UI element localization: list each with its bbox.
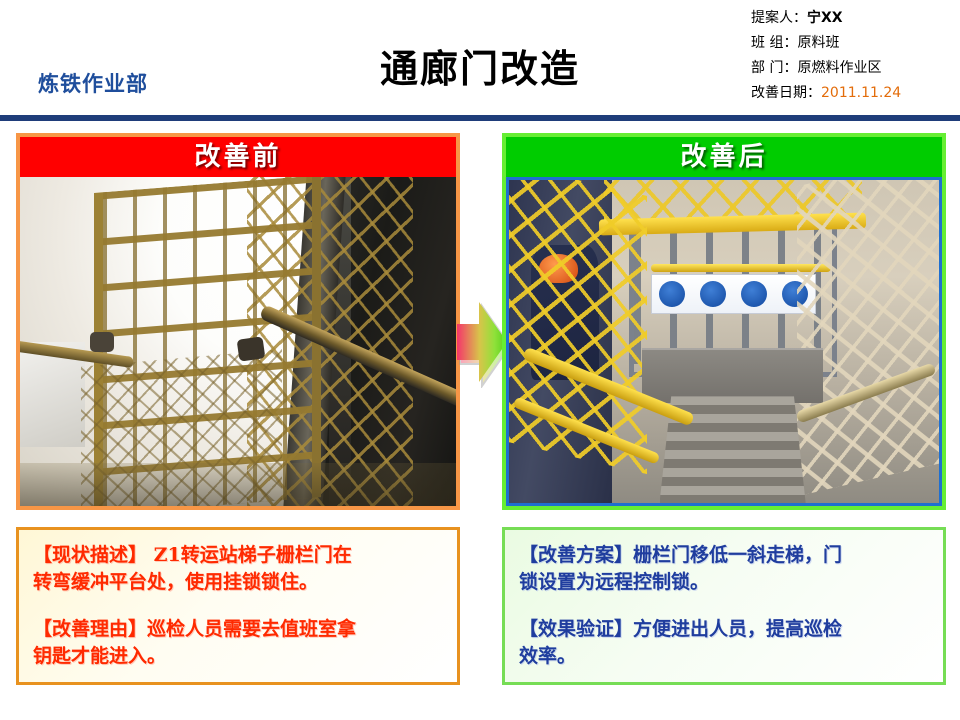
after-photo-image xyxy=(509,180,939,503)
slide-header: 炼铁作业部 通廊门改造 提案人：宁XX 班 组：原料班 部 门：原燃料作业区 改… xyxy=(0,0,960,118)
meta-value-proposer: 宁XX xyxy=(807,10,843,26)
improvement-plan-line-2: 锁设置为远程控制锁。 xyxy=(519,569,929,596)
safety-sign-icon-1 xyxy=(659,281,685,307)
before-frame: 改善前 xyxy=(16,133,460,510)
after-photo xyxy=(506,177,942,506)
text-gap xyxy=(519,596,929,616)
improvement-reason-line-2: 钥匙才能进入。 xyxy=(33,643,443,670)
after-description-box: 【改善方案】栅栏门移低一斜走梯，门 锁设置为远程控制锁。 【效果验证】方便进出人… xyxy=(502,527,946,685)
right-mesh xyxy=(797,180,939,497)
meta-row-date: 改善日期：2011.11.24 xyxy=(751,81,946,106)
meta-label-date: 改善日期： xyxy=(751,85,821,101)
improvement-reason-line-1: 【改善理由】巡检人员需要去值班室拿 xyxy=(33,616,443,643)
photo-foreground-shade xyxy=(20,463,456,506)
meta-row-proposer: 提案人：宁XX xyxy=(751,6,946,31)
panel-before: 改善前 xyxy=(16,133,460,510)
slide-root: 炼铁作业部 通廊门改造 提案人：宁XX 班 组：原料班 部 门：原燃料作业区 改… xyxy=(0,0,960,720)
hinge-icon xyxy=(90,332,114,352)
after-frame: 改善后 xyxy=(502,133,946,510)
safety-sign-icon-2 xyxy=(700,281,726,307)
meta-label-proposer: 提案人： xyxy=(751,10,807,26)
meta-block: 提案人：宁XX 班 组：原料班 部 门：原燃料作业区 改善日期：2011.11.… xyxy=(751,6,946,106)
safety-sign-icon-3 xyxy=(741,281,767,307)
meta-value-date: 2011.11.24 xyxy=(821,85,901,101)
meta-row-team: 班 组：原料班 xyxy=(751,31,946,56)
current-status-line-2: 转弯缓冲平台处，使用挂锁锁住。 xyxy=(33,569,443,596)
before-description-box: 【现状描述】 Z1转运站梯子栅栏门在 转弯缓冲平台处，使用挂锁锁住。 【改善理由… xyxy=(16,527,460,685)
meta-value-dept: 原燃料作业区 xyxy=(797,60,881,76)
meta-label-team: 班 组： xyxy=(751,35,797,51)
meta-value-team: 原料班 xyxy=(797,35,839,51)
padlock-icon xyxy=(237,337,266,362)
meta-label-dept: 部 门： xyxy=(751,60,797,76)
landing-plate xyxy=(642,348,823,403)
header-divider xyxy=(0,115,960,121)
improvement-plan-line-1: 【改善方案】栅栏门移低一斜走梯，门 xyxy=(519,542,929,569)
current-status-line-1: 【现状描述】 Z1转运站梯子栅栏门在 xyxy=(33,542,443,569)
safety-sign-board xyxy=(651,274,816,315)
before-photo-image xyxy=(20,177,456,506)
meta-row-dept: 部 门：原燃料作业区 xyxy=(751,56,946,81)
before-banner: 改善前 xyxy=(20,137,456,177)
text-gap xyxy=(33,596,443,616)
effect-verification-line-1: 【效果验证】方便进出人员，提高巡检 xyxy=(519,616,929,643)
effect-verification-line-2: 效率。 xyxy=(519,643,929,670)
panel-after: 改善后 xyxy=(502,133,946,510)
before-photo xyxy=(20,177,456,506)
after-banner: 改善后 xyxy=(506,137,942,177)
